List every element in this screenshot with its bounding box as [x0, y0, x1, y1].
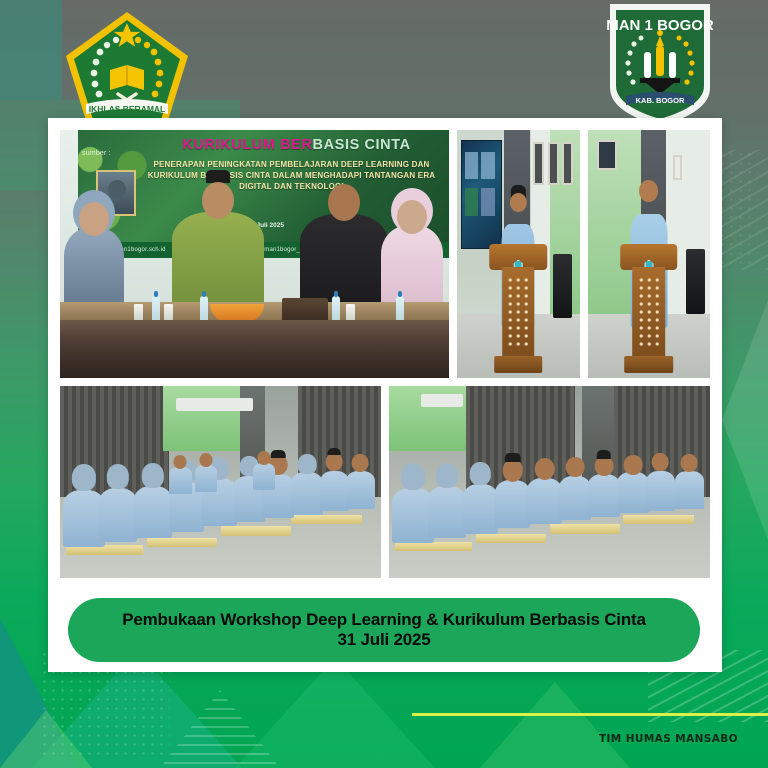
desk — [623, 515, 694, 525]
water-bottle — [200, 296, 208, 322]
participant — [495, 480, 530, 528]
participant — [559, 476, 591, 520]
podium-base — [625, 356, 673, 373]
photo-podium-right — [588, 130, 711, 378]
desk — [221, 526, 292, 536]
ac-unit-icon — [421, 394, 463, 407]
participant — [346, 471, 375, 509]
screen-title: KURIKULUM BERBASIS CINTA — [150, 138, 443, 153]
participant — [646, 471, 675, 511]
screen-title-part1: KURIKULUM BER — [182, 137, 312, 153]
participant-back-row — [169, 467, 191, 494]
participant — [675, 471, 704, 509]
photo-audience-left — [60, 386, 381, 578]
water-bottle — [396, 296, 404, 322]
projector-screen — [461, 140, 503, 249]
participant — [428, 486, 467, 538]
screen-subtitle: PENERAPAN PENINGKATAN PEMBELAJARAN DEEP … — [142, 160, 441, 192]
wall-frame — [562, 142, 573, 184]
wooden-podium — [620, 244, 678, 373]
poster-root: IKHLAS BERAMAL MAN 1 BOGOR KAB. BOGOR — [0, 0, 768, 768]
participant — [99, 488, 138, 542]
wall-frame — [597, 140, 617, 170]
caption-line-2: 31 Juli 2025 — [337, 630, 430, 650]
caption-banner: Pembukaan Workshop Deep Learning & Kurik… — [68, 598, 700, 662]
water-bottle — [152, 296, 160, 322]
water-bottle — [332, 296, 340, 322]
participant — [527, 478, 562, 524]
podium-lattice — [507, 276, 530, 348]
head-table — [60, 320, 449, 378]
desk — [147, 538, 218, 548]
participant — [588, 474, 620, 516]
loudspeaker — [686, 249, 706, 313]
wall-frame — [533, 142, 544, 184]
participant — [320, 471, 349, 511]
accent-rule — [412, 713, 768, 716]
screen-title-part2: BASIS CINTA — [313, 137, 411, 153]
desk — [550, 524, 621, 534]
photo-audience-right — [389, 386, 710, 578]
wooden-podium — [489, 244, 547, 373]
man-1-bogor-logo: MAN 1 BOGOR KAB. BOGOR — [590, 0, 730, 130]
loudspeaker — [553, 254, 573, 318]
podium-body — [502, 267, 534, 357]
podium-body — [633, 267, 665, 357]
credit-text: TIM HUMAS MANSABO — [599, 733, 738, 745]
podium-lattice — [637, 276, 660, 348]
participant — [463, 484, 498, 534]
participant — [291, 472, 323, 514]
kemenag-ribbon-text: IKHLAS BERAMAL — [89, 104, 166, 114]
bg-triangle-3 — [480, 682, 630, 768]
wall-light — [673, 155, 682, 180]
bg-corner-wedge — [722, 300, 768, 540]
desk — [291, 515, 362, 525]
wall-frame — [548, 142, 559, 184]
photo-collage-card: sumber : KURIKULUM BERBASIS CINTA PENERA… — [48, 118, 722, 672]
ac-unit-icon — [211, 398, 253, 411]
caption-line-1: Pembukaan Workshop Deep Learning & Kurik… — [122, 610, 646, 630]
man-logo-ribbon-text: KAB. BOGOR — [636, 96, 685, 105]
photo-row-bottom — [60, 386, 710, 578]
photo-row-top: sumber : KURIKULUM BERBASIS CINTA PENERA… — [60, 130, 710, 378]
desk — [476, 534, 547, 544]
screen-source-label: sumber : — [82, 150, 111, 157]
table-podium-box — [282, 298, 328, 322]
bg-block-teal — [0, 0, 62, 100]
wall-green — [163, 386, 240, 451]
podium-base — [494, 356, 542, 373]
participant — [617, 472, 649, 512]
kemenag-logo: IKHLAS BERAMAL — [62, 8, 192, 136]
participant-back-row — [195, 465, 217, 492]
photo-podium-left — [457, 130, 580, 378]
participant — [134, 486, 173, 538]
participant-back-row — [253, 463, 275, 490]
photo-main-panel: sumber : KURIKULUM BERBASIS CINTA PENERA… — [60, 130, 449, 378]
